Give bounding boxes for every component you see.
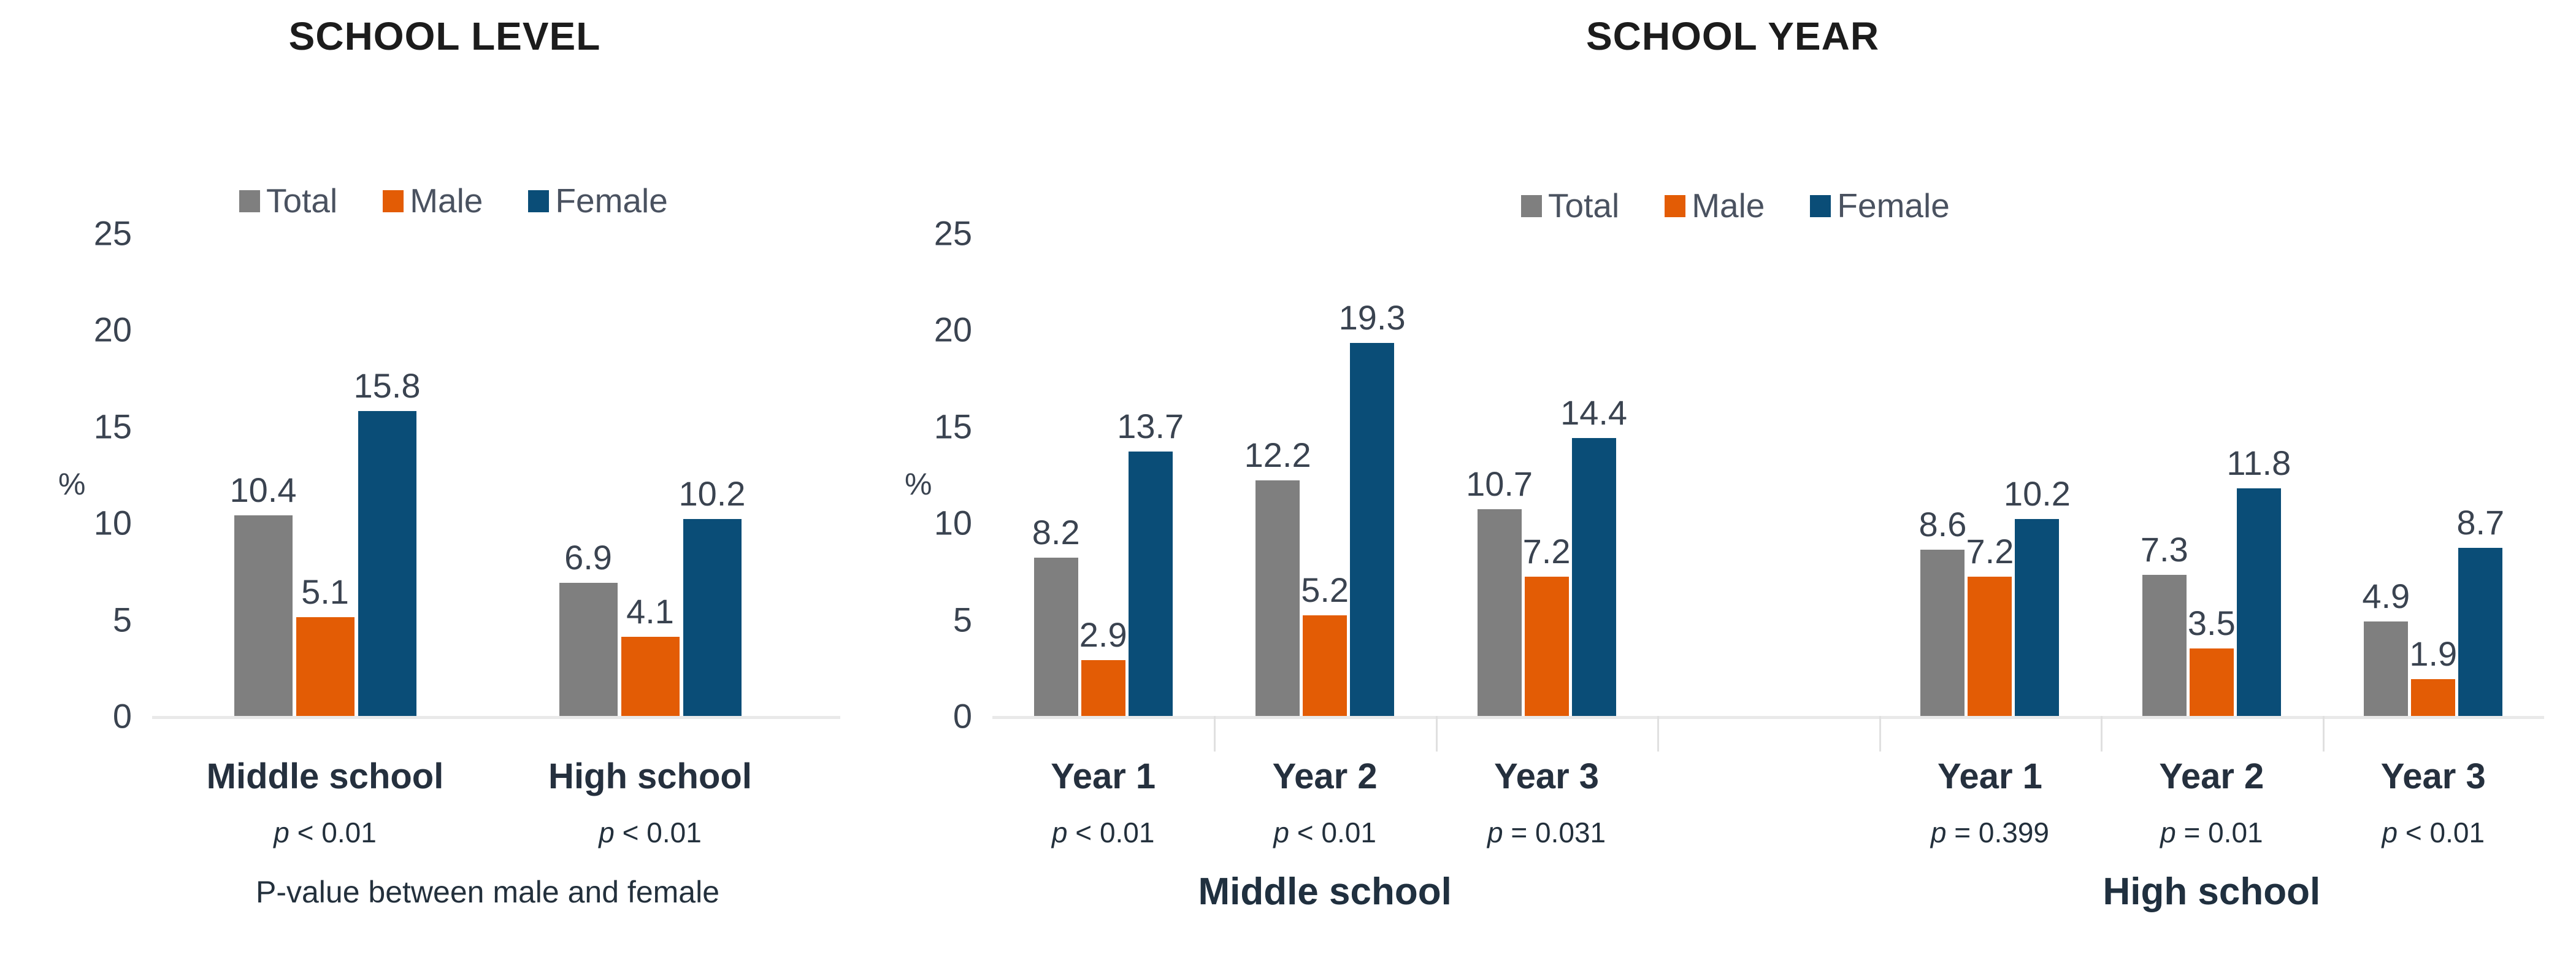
bar-total[interactable] (1478, 509, 1522, 716)
bar-value-label: 8.6 (1919, 504, 1966, 544)
bar-male[interactable] (1968, 577, 2012, 716)
section-label-high-school: High school (2103, 870, 2320, 913)
bar-female[interactable] (1350, 343, 1394, 716)
y-axis-tick-label: 5 (113, 599, 132, 639)
category-label-year-1: Year 1 (1938, 756, 2042, 797)
bar-value-label: 8.7 (2456, 502, 2504, 542)
bar-value-label: 5.2 (1301, 570, 1349, 610)
section-label-middle-school: Middle school (1198, 870, 1451, 913)
x-axis-tick-mark (1879, 716, 1881, 752)
bar-female[interactable] (1129, 452, 1173, 716)
y-axis-tick-label: 0 (953, 696, 972, 736)
y-axis-unit-label: % (905, 466, 932, 502)
x-axis-line (992, 716, 2544, 719)
bar-value-label: 2.9 (1079, 615, 1127, 655)
bar-total[interactable] (559, 583, 618, 716)
plot-area-school-level: 0510152025%10.45.115.8Middle schoolp < 0… (0, 0, 889, 973)
footnote-p-value: P-value between male and female (256, 874, 719, 910)
bar-female[interactable] (358, 411, 416, 716)
x-axis-line (152, 716, 840, 719)
y-axis-tick-label: 15 (94, 406, 132, 446)
bar-total[interactable] (234, 515, 293, 716)
bar-value-label: 4.1 (626, 591, 674, 631)
category-label-middle-school: Middle school (207, 756, 444, 797)
bar-value-label: 13.7 (1117, 406, 1184, 446)
category-label-year-2: Year 2 (2159, 756, 2264, 797)
x-axis-tick-mark (1657, 716, 1659, 752)
category-label-high-school: High school (548, 756, 752, 797)
category-label-year-2: Year 2 (1273, 756, 1378, 797)
chart-panel-school-level: SCHOOL LEVEL TotalMaleFemale 0510152025%… (0, 0, 889, 973)
p-value-label: p < 0.01 (599, 816, 702, 849)
p-value-label: p = 0.01 (2160, 816, 2263, 849)
bar-male[interactable] (621, 637, 680, 716)
bar-male[interactable] (296, 617, 355, 716)
bar-male[interactable] (1303, 615, 1347, 716)
bar-value-label: 1.9 (2409, 634, 2457, 674)
p-value-label: p < 0.01 (1273, 816, 1376, 849)
y-axis-tick-label: 10 (94, 503, 132, 543)
p-value-label: p = 0.399 (1931, 816, 2049, 849)
x-axis-tick-mark (2323, 716, 2325, 752)
bar-value-label: 7.2 (1523, 531, 1571, 571)
y-axis-unit-label: % (58, 466, 85, 502)
bar-female[interactable] (683, 519, 742, 716)
y-axis-tick-label: 0 (113, 696, 132, 736)
bar-female[interactable] (1572, 438, 1616, 716)
bar-value-label: 10.2 (2004, 474, 2071, 513)
y-axis-tick-label: 20 (934, 310, 972, 350)
y-axis-tick-label: 10 (934, 503, 972, 543)
bar-value-label: 3.5 (2188, 603, 2236, 643)
bar-value-label: 8.2 (1032, 512, 1080, 552)
p-value-label: p = 0.031 (1487, 816, 1606, 849)
bar-male[interactable] (2190, 648, 2234, 716)
y-axis-tick-label: 5 (953, 599, 972, 639)
bar-value-label: 11.8 (2226, 443, 2291, 483)
x-axis-tick-mark (2101, 716, 2103, 752)
p-value-label: p < 0.01 (2382, 816, 2485, 849)
bar-female[interactable] (2458, 548, 2502, 716)
bar-female[interactable] (2237, 488, 2281, 716)
bar-value-label: 10.7 (1466, 464, 1533, 504)
bar-male[interactable] (2411, 679, 2455, 716)
bar-value-label: 12.2 (1244, 435, 1311, 475)
plot-area-school-year: 0510152025%8.22.913.7Year 1p < 0.0112.25… (889, 0, 2576, 973)
bar-male[interactable] (1081, 660, 1125, 716)
x-axis-tick-mark (1214, 716, 1216, 752)
category-label-year-3: Year 3 (1494, 756, 1599, 797)
bar-value-label: 7.2 (1966, 531, 2014, 571)
bar-female[interactable] (2015, 519, 2059, 716)
p-value-label: p < 0.01 (274, 816, 377, 849)
x-axis-tick-mark (1436, 716, 1438, 752)
bar-total[interactable] (2364, 621, 2408, 716)
bar-total[interactable] (1920, 550, 1965, 716)
y-axis-tick-label: 20 (94, 310, 132, 350)
bar-total[interactable] (2142, 575, 2187, 716)
bar-value-label: 7.3 (2141, 529, 2188, 569)
chart-panel-school-year: SCHOOL YEAR TotalMaleFemale 0510152025%8… (889, 0, 2576, 973)
category-label-year-1: Year 1 (1051, 756, 1156, 797)
y-axis-tick-label: 25 (94, 213, 132, 253)
bar-value-label: 19.3 (1339, 298, 1406, 337)
p-value-label: p < 0.01 (1052, 816, 1155, 849)
category-label-year-3: Year 3 (2381, 756, 2486, 797)
bar-value-label: 15.8 (354, 366, 421, 406)
y-axis-tick-label: 25 (934, 213, 972, 253)
bar-value-label: 6.9 (564, 537, 612, 577)
bar-value-label: 14.4 (1560, 393, 1627, 433)
bar-value-label: 4.9 (2362, 576, 2410, 616)
bar-male[interactable] (1525, 577, 1569, 716)
bar-value-label: 10.4 (230, 470, 297, 510)
bar-value-label: 10.2 (679, 474, 746, 513)
bar-total[interactable] (1255, 480, 1300, 716)
bar-total[interactable] (1034, 558, 1078, 716)
y-axis-tick-label: 15 (934, 406, 972, 446)
bar-value-label: 5.1 (301, 572, 349, 612)
